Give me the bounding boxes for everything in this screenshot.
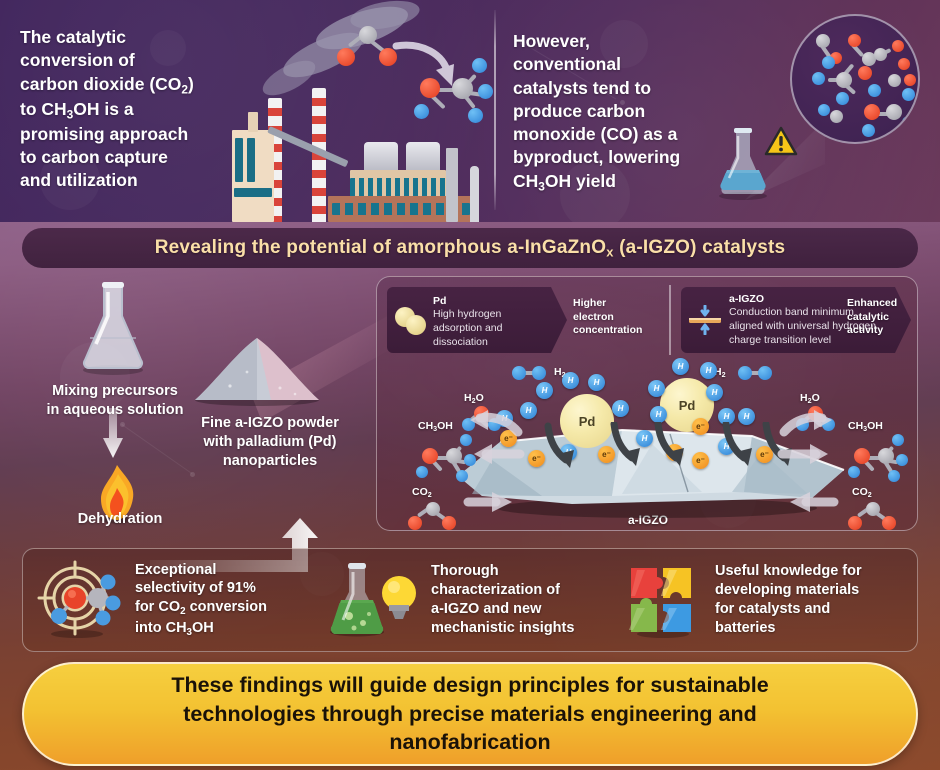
clear-flask-icon xyxy=(78,280,148,376)
target-molecule-icon xyxy=(37,558,121,642)
benefit-item-selectivity: Exceptional selectivity of 91% for CO2 c… xyxy=(23,549,323,651)
line: catalysts tend to xyxy=(513,77,713,100)
line: for catalysts and xyxy=(715,600,862,619)
co2-molecule-right xyxy=(848,500,896,530)
carbon-atom xyxy=(452,78,473,99)
methanol-molecule-right xyxy=(846,434,908,486)
line: carbon dioxide (CO2) xyxy=(20,73,235,98)
line: a-IGZO and new xyxy=(431,600,574,619)
igzo-powder-icon xyxy=(185,334,330,406)
benefit-item-characterization: Thorough characterization of a-IGZO and … xyxy=(323,549,623,651)
line: Enhanced xyxy=(847,297,917,311)
line: dissociation xyxy=(433,336,563,350)
down-arrow xyxy=(101,408,125,460)
line: with palladium (Pd) xyxy=(180,433,360,452)
window xyxy=(235,138,243,182)
pd-tag-title: Pd xyxy=(433,295,563,308)
oxygen-atom xyxy=(892,40,904,52)
storage-tank xyxy=(406,142,440,172)
process-step3-label: Fine a-IGZO powder with palladium (Pd) n… xyxy=(180,414,360,471)
blue-flask-icon xyxy=(716,126,770,200)
line: High hydrogen xyxy=(433,308,563,322)
water-label-left: H2O xyxy=(464,392,484,405)
line: byproduct, lowering xyxy=(513,146,713,169)
line: batteries xyxy=(715,619,862,638)
section-divider xyxy=(494,10,496,210)
line: The catalytic xyxy=(20,26,235,49)
section-title: Revealing the potential of amorphous a-I… xyxy=(155,237,786,260)
hydrogen-atom xyxy=(812,72,825,85)
co2-label-left: CO2 xyxy=(412,486,432,499)
pd-nanoparticle-icon xyxy=(395,307,429,335)
right-flow-arrows xyxy=(776,408,840,518)
warning-triangle-icon xyxy=(764,126,798,157)
oxygen-atom xyxy=(848,34,861,47)
hydrogen-atom xyxy=(902,116,915,129)
line: for CO2 conversion xyxy=(135,598,267,619)
hydrogen-atom xyxy=(902,88,915,101)
molecule-cluster-circle xyxy=(790,14,920,144)
oxygen-atom xyxy=(858,66,872,80)
hydrogen-sphere: H xyxy=(672,358,689,375)
conclusion-banner: These findings will guide design princip… xyxy=(22,662,918,766)
hydrogen-sphere: H xyxy=(650,406,667,423)
carbon-atom xyxy=(816,34,830,48)
hydrogen-sphere: H xyxy=(648,380,665,397)
line: monoxide (CO) as a xyxy=(513,123,713,146)
line: CH3OH yield xyxy=(513,170,713,195)
line: However, xyxy=(513,30,713,53)
hydrogen-sphere: H xyxy=(612,400,629,417)
oxygen-atom xyxy=(420,78,440,98)
hydrogen-atom xyxy=(868,84,881,97)
carbon-atom xyxy=(359,26,377,44)
carbon-atom xyxy=(874,48,887,61)
line: technologies through precise materials e… xyxy=(183,702,756,726)
line: activity xyxy=(847,324,917,338)
h2-molecule xyxy=(512,366,552,380)
hydrogen-atom xyxy=(818,104,830,116)
left-flow-arrows xyxy=(462,408,526,518)
line: catalytic xyxy=(847,311,917,325)
hydrogen-atom xyxy=(862,124,875,137)
pipe xyxy=(470,166,479,222)
puzzle-icon xyxy=(623,560,703,640)
carbon-atom xyxy=(830,110,843,123)
building-band xyxy=(234,188,272,197)
tag-divider xyxy=(669,285,671,355)
co2-molecule-left xyxy=(408,500,456,530)
line: to carbon capture xyxy=(20,146,235,169)
top-right-statement: However, conventional catalysts tend to … xyxy=(513,30,713,195)
hydrogen-atom xyxy=(472,58,487,73)
line: nanoparticles xyxy=(180,452,360,471)
line: and utilization xyxy=(20,169,235,192)
methanol-label-left: CH3OH xyxy=(418,420,453,433)
line: adsorption and xyxy=(433,322,563,336)
pd-sphere xyxy=(406,315,426,335)
flask-lightbulb-icon xyxy=(323,560,419,640)
line: Mixing precursors xyxy=(20,382,210,401)
top-section: The catalytic conversion of carbon dioxi… xyxy=(0,0,940,222)
hydrogen-atom xyxy=(468,108,483,123)
window xyxy=(247,138,255,182)
line: to CH3OH is a xyxy=(20,98,235,123)
line: Exceptional xyxy=(135,561,267,580)
carbon-atom xyxy=(836,72,852,88)
top-left-statement: The catalytic conversion of carbon dioxi… xyxy=(20,26,235,193)
benefit-text: Useful knowledge for developing material… xyxy=(715,562,862,637)
oxygen-atom xyxy=(337,48,355,66)
hydrogen-atom xyxy=(414,104,429,119)
conclusion-text: These findings will guide design princip… xyxy=(50,671,890,756)
hydrogen-sphere: H xyxy=(588,374,605,391)
hydrogen-atom xyxy=(836,92,849,105)
co2-label-right: CO2 xyxy=(852,486,872,499)
hydrogen-atom xyxy=(478,84,493,99)
pd-outcome-label: Higher electron concentration xyxy=(573,297,663,338)
line: characterization of xyxy=(431,581,574,600)
pd-tag-box: Pd High hydrogen adsorption and dissocia… xyxy=(387,287,567,353)
mixed-molecules xyxy=(806,26,916,136)
line: produce carbon xyxy=(513,100,713,123)
section-title-banner: Revealing the potential of amorphous a-I… xyxy=(22,228,918,268)
line: mechanistic insights xyxy=(431,619,574,638)
igzo-outcome-label: Enhanced catalytic activity xyxy=(847,297,917,338)
benefit-item-knowledge: Useful knowledge for developing material… xyxy=(623,549,913,651)
h2-molecule xyxy=(738,366,778,380)
methanol-molecule-top xyxy=(410,56,490,130)
line: conventional xyxy=(513,53,713,76)
water-label-right: H2O xyxy=(800,392,820,405)
oxygen-atom xyxy=(864,104,880,120)
line: developing materials xyxy=(715,581,862,600)
pipe-tower xyxy=(446,148,458,222)
line: Higher xyxy=(573,297,663,311)
hydrogen-sphere: H xyxy=(562,372,579,389)
carbon-atom xyxy=(888,74,901,87)
line: Useful knowledge for xyxy=(715,562,862,581)
line: conversion of xyxy=(20,49,235,72)
line: selectivity of 91% xyxy=(135,579,267,598)
middle-section: Revealing the potential of amorphous a-I… xyxy=(0,222,940,770)
storage-tank xyxy=(364,142,398,172)
carbon-atom xyxy=(886,104,902,120)
line: Fine a-IGZO powder xyxy=(180,414,360,433)
oxygen-atom xyxy=(904,74,916,86)
line: Thorough xyxy=(431,562,574,581)
line: into CH3OH xyxy=(135,619,267,640)
methanol-label-right: CH3OH xyxy=(848,420,883,433)
benefits-panel: Exceptional selectivity of 91% for CO2 c… xyxy=(22,548,918,652)
line: electron xyxy=(573,311,663,325)
hydrogen-sphere: H xyxy=(536,382,553,399)
building-top xyxy=(248,112,258,132)
line: promising approach xyxy=(20,123,235,146)
line: These findings will guide design princip… xyxy=(171,673,768,697)
benefit-text: Thorough characterization of a-IGZO and … xyxy=(431,562,574,637)
line: nanofabrication xyxy=(389,730,550,754)
hydrogen-sphere: H xyxy=(706,384,723,401)
benefit-text: Exceptional selectivity of 91% for CO2 c… xyxy=(135,561,267,640)
oxygen-atom xyxy=(898,58,910,70)
hydrogen-atom xyxy=(822,56,835,69)
infographic-root: The catalytic conversion of carbon dioxi… xyxy=(0,0,940,770)
hydrogen-sphere: H xyxy=(700,362,717,379)
band-alignment-icon xyxy=(689,305,721,335)
line: concentration xyxy=(573,324,663,338)
